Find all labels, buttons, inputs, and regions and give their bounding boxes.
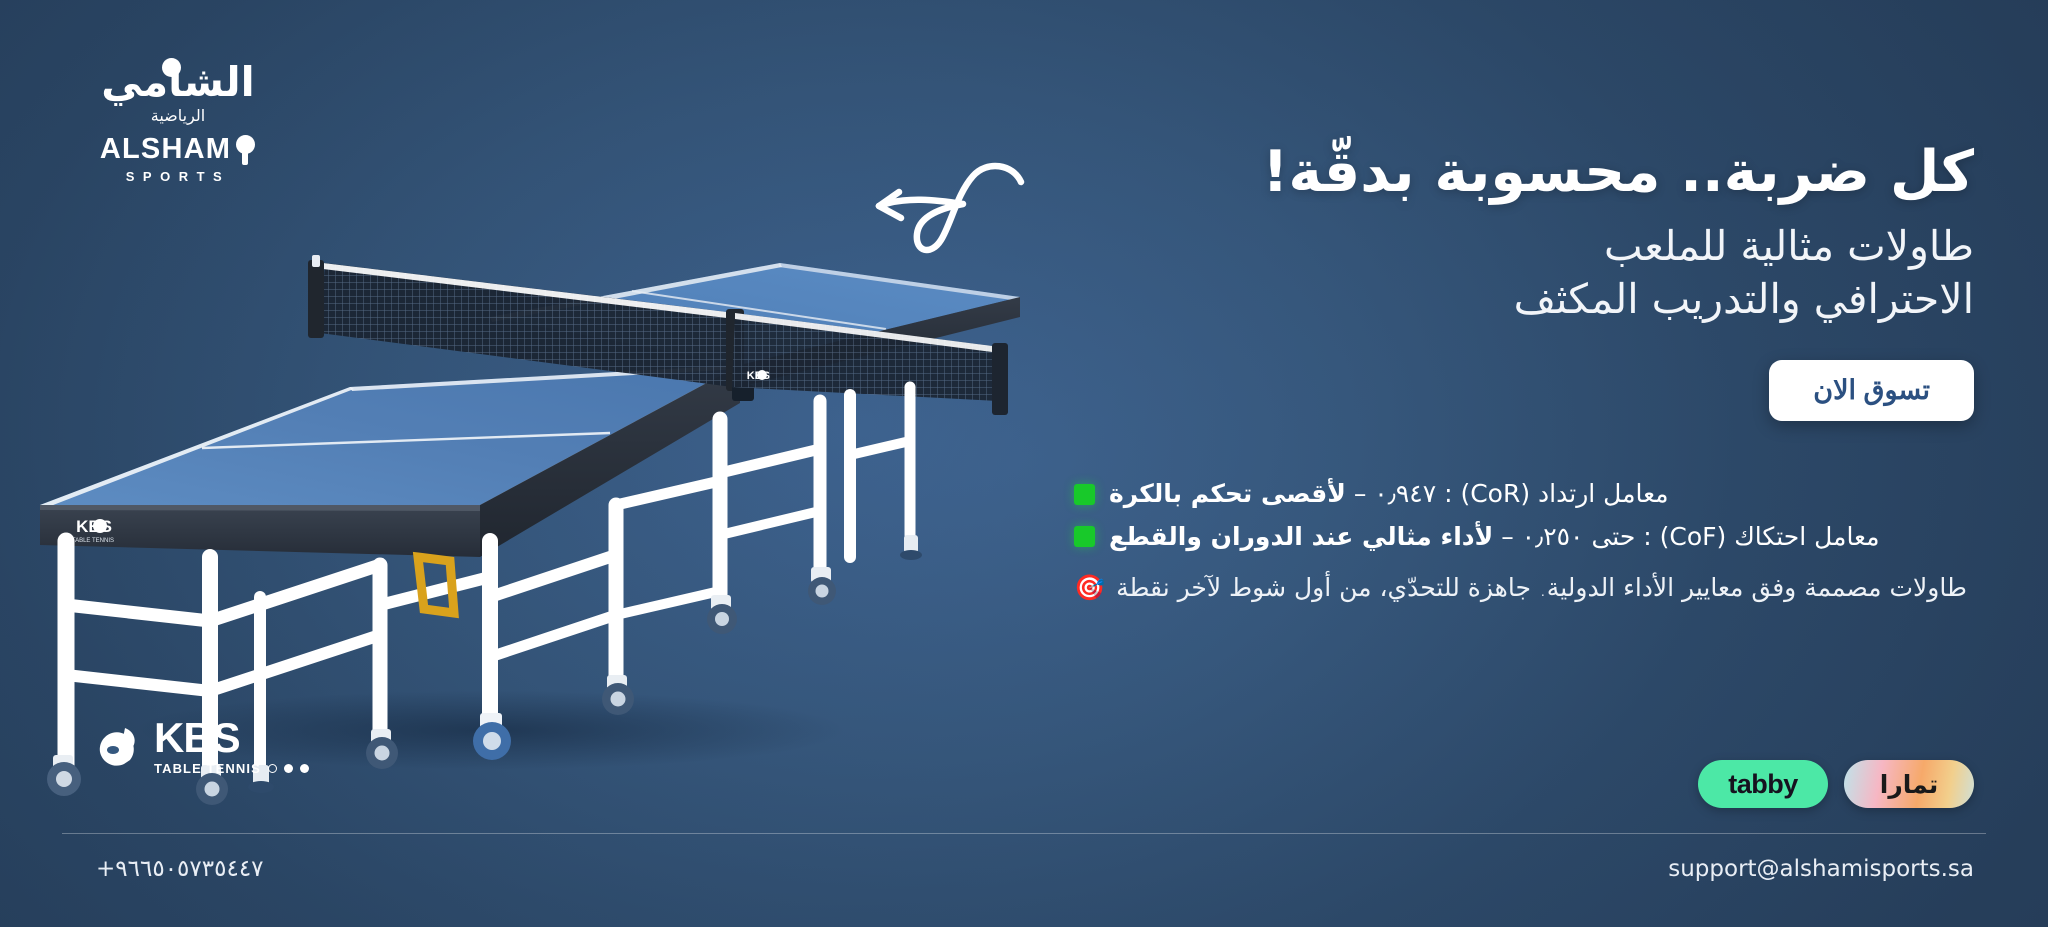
subheadline-line-1: طاولات مثالية للملعب: [1604, 222, 1974, 270]
kbs-tagline-row: TABLE TENNIS: [154, 761, 309, 776]
feature-text-cof: معامل احتكاك (CoF) : حتى ٠٫٢٥٠ – لأداء م…: [1109, 520, 1880, 554]
ball-icon: [162, 58, 181, 77]
brand-english-sub: SPORTS: [126, 169, 230, 184]
kbs-tagline: TABLE TENNIS: [154, 761, 261, 776]
feature-item-cor: معامل ارتداد (CoR) : ٠٫٩٤٧ – لأقصى تحكم …: [1074, 477, 1974, 511]
subheadline: طاولات مثالية للملعب الاحترافي والتدريب …: [1074, 220, 1974, 327]
target-icon: 🎯: [1074, 575, 1105, 600]
brand-english-name: ALSHAM: [88, 133, 268, 166]
curved-arrow-left-icon: [845, 148, 1035, 268]
brand-arabic-name: الشامي: [88, 62, 268, 103]
footer-email[interactable]: support@alshamisports.sa: [1668, 856, 1974, 882]
promo-banner: الشامي الرياضية ALSHAM SPORTS: [0, 0, 2048, 927]
feature-cor-plain: معامل ارتداد (CoR) : ٠٫٩٤٧ –: [1346, 479, 1669, 508]
paddle-icon: [234, 135, 256, 165]
bullet-square-icon: [1074, 526, 1095, 547]
kbs-paddle-icon: [92, 722, 142, 772]
dot-icon: [268, 764, 277, 773]
brand-arabic-sub: الرياضية: [88, 108, 268, 124]
feature-cof-bold: لأداء مثالي عند الدوران والقطع: [1109, 522, 1493, 551]
footer-divider: [62, 833, 1986, 834]
subheadline-line-2: الاحترافي والتدريب المكثف: [1514, 275, 1974, 323]
tamara-badge[interactable]: تمارا: [1844, 760, 1974, 808]
page-title: كل ضربة.. محسوبة بدقّة!: [1074, 140, 1974, 206]
feature-cof-plain: معامل احتكاك (CoF) : حتى ٠٫٢٥٠ –: [1493, 522, 1879, 551]
feature-cor-bold: لأقصى تحكم بالكرة: [1109, 479, 1346, 508]
svg-text:KBS: KBS: [76, 517, 112, 536]
dot-icon: [284, 764, 293, 773]
footer-phone[interactable]: +٩٦٦٥٠٥٧٣٥٤٤٧: [96, 856, 264, 882]
payment-methods: تمارا tabby: [1698, 760, 1974, 808]
svg-text:KBS: KBS: [747, 370, 770, 382]
bullet-square-icon: [1074, 484, 1095, 505]
kbs-wordmark: KBS: [154, 718, 309, 758]
dot-icon: [300, 764, 309, 773]
tabby-badge[interactable]: tabby: [1698, 760, 1828, 808]
shop-now-button[interactable]: تسوق الان: [1769, 360, 1974, 421]
copy-block: كل ضربة.. محسوبة بدقّة! طاولات مثالية لل…: [1074, 140, 1974, 604]
svg-text:TABLE TENNIS: TABLE TENNIS: [72, 538, 114, 544]
feature-note-text: طاولات مصممة وفق معايير الأداء الدولية. …: [1116, 571, 1967, 605]
feature-text-cor: معامل ارتداد (CoR) : ٠٫٩٤٧ – لأقصى تحكم …: [1109, 477, 1669, 511]
feature-list: معامل ارتداد (CoR) : ٠٫٩٤٧ – لأقصى تحكم …: [1074, 477, 1974, 604]
feature-note: طاولات مصممة وفق معايير الأداء الدولية. …: [1074, 571, 1974, 605]
feature-item-cof: معامل احتكاك (CoF) : حتى ٠٫٢٥٠ – لأداء م…: [1074, 520, 1974, 554]
brand-logo[interactable]: الشامي الرياضية ALSHAM SPORTS: [88, 62, 268, 185]
kbs-logo: KBS TABLE TENNIS: [92, 718, 309, 776]
